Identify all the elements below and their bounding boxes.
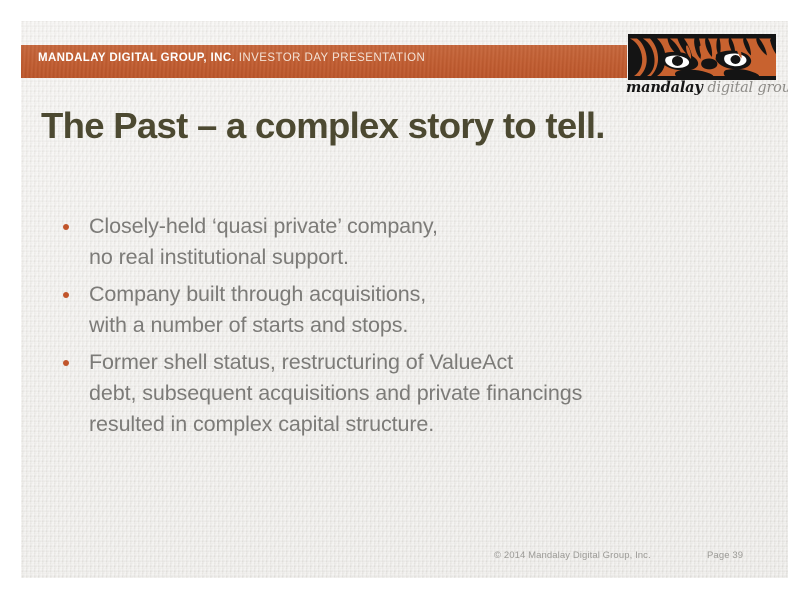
bullet-list: Closely-held ‘quasi private’ company, no…	[41, 211, 741, 446]
slide-footer: © 2014 Mandalay Digital Group, Inc. Page…	[21, 550, 788, 570]
bullet-dot-icon	[63, 224, 69, 230]
footer-page-number: Page 39	[707, 550, 743, 561]
header-deck-name: INVESTOR DAY PRESENTATION	[239, 52, 426, 64]
logo-wordmark: mandalay digital group	[626, 79, 778, 101]
bullet-text: Company built through acquisitions, with…	[89, 282, 426, 337]
presentation-slide: MANDALAY DIGITAL GROUP, INC. INVESTOR DA…	[21, 21, 788, 578]
list-item: Former shell status, restructuring of Va…	[41, 347, 741, 440]
logo-wordmark-light: digital group	[707, 80, 788, 96]
logo-wordmark-bold: mandalay	[626, 79, 707, 96]
header-title: MANDALAY DIGITAL GROUP, INC. INVESTOR DA…	[38, 52, 425, 64]
footer-copyright: © 2014 Mandalay Digital Group, Inc.	[494, 550, 651, 561]
bullet-text: Former shell status, restructuring of Va…	[89, 350, 582, 436]
list-item: Company built through acquisitions, with…	[41, 279, 741, 341]
bullet-dot-icon	[63, 360, 69, 366]
bullet-text: Closely-held ‘quasi private’ company, no…	[89, 214, 438, 269]
brand-logo: mandalay digital group	[626, 34, 781, 106]
header-band: MANDALAY DIGITAL GROUP, INC. INVESTOR DA…	[21, 45, 627, 78]
header-company-name: MANDALAY DIGITAL GROUP, INC.	[38, 52, 235, 64]
bullet-dot-icon	[63, 292, 69, 298]
list-item: Closely-held ‘quasi private’ company, no…	[41, 211, 741, 273]
slide-title: The Past – a complex story to tell.	[41, 105, 741, 147]
tiger-face-logo-icon	[628, 34, 776, 80]
